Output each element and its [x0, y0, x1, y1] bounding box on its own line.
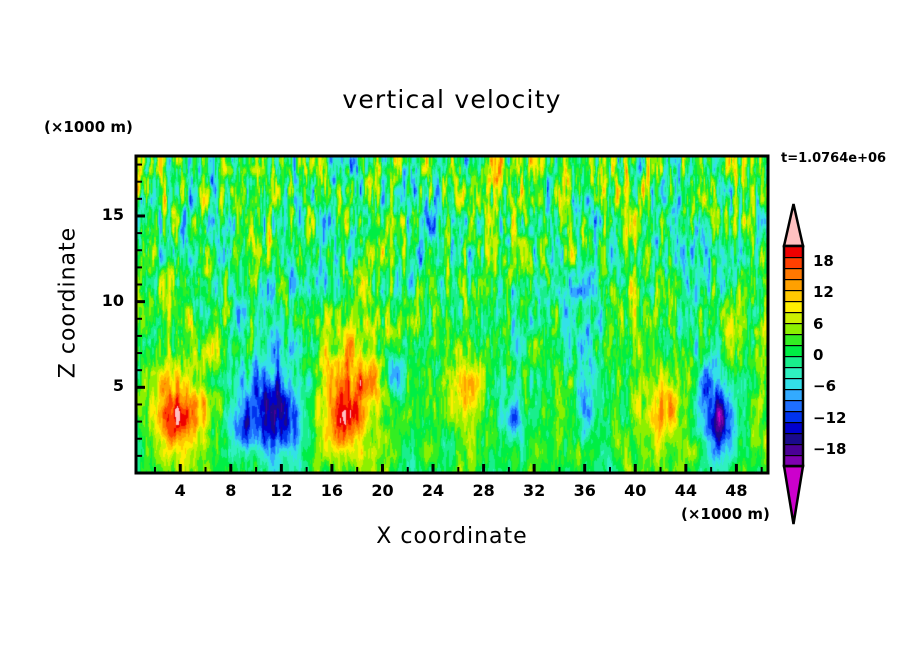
x-tick-label: 44: [661, 481, 711, 500]
y-tick-label: 10: [76, 291, 124, 310]
y-tick-label: 5: [76, 376, 124, 395]
x-tick-label: 16: [307, 481, 357, 500]
colorbar-tick-label: 6: [813, 315, 823, 333]
x-tick-label: 8: [206, 481, 256, 500]
colorbar-tick-label: 18: [813, 252, 834, 270]
x-tick-label: 28: [459, 481, 509, 500]
colorbar-tick-label: 0: [813, 346, 823, 364]
colorbar-tick-label: −12: [813, 409, 846, 427]
x-tick-label: 4: [155, 481, 205, 500]
colorbar-tick-label: 12: [813, 283, 834, 301]
colorbar-tick-label: −18: [813, 440, 846, 458]
figure-canvas: vertical velocity (×1000 m) (×1000 m) Z …: [0, 0, 904, 654]
x-tick-label: 32: [509, 481, 559, 500]
x-tick-label: 40: [610, 481, 660, 500]
x-tick-label: 36: [560, 481, 610, 500]
y-tick-label: 15: [76, 205, 124, 224]
x-tick-label: 12: [256, 481, 306, 500]
colorbar-tick-label: −6: [813, 377, 836, 395]
x-tick-label: 20: [357, 481, 407, 500]
x-tick-label: 24: [408, 481, 458, 500]
contour-plot-svg: [0, 0, 904, 654]
x-tick-label: 48: [711, 481, 761, 500]
